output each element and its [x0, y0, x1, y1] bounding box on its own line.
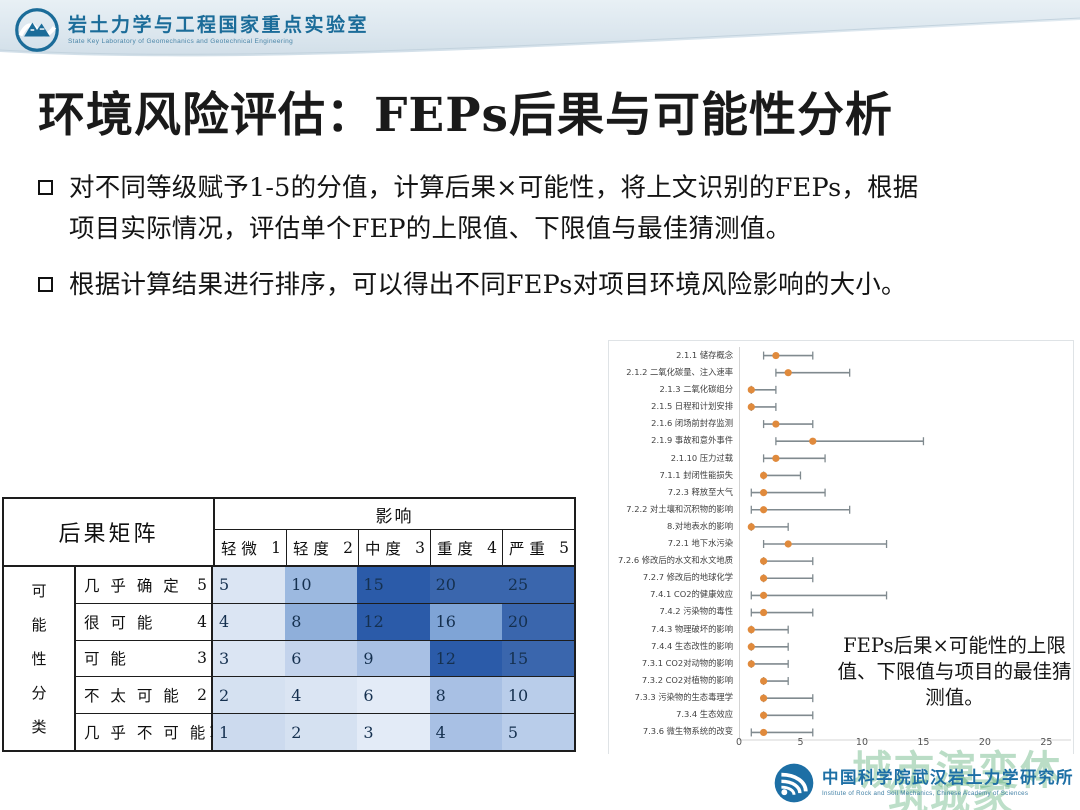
chart-data-point [760, 694, 813, 702]
bullet-line: 对不同等级赋予1-5的分值，计算后果×可能性，将上文识别的FEPs，根据 [69, 168, 919, 209]
impact-column-header: 严 重5 [503, 530, 574, 565]
impact-column-headers: 轻 微1轻 度2中 度3重 度4严 重5 [215, 530, 574, 565]
chart-category-label: 7.2.3 释放至大气 [609, 484, 737, 501]
best-guess-marker [785, 540, 792, 547]
x-axis-tick-label: 0 [736, 737, 742, 748]
best-guess-marker [760, 712, 767, 719]
likelihood-axis-char: 可 [31, 580, 46, 601]
cas-wave-logo-icon [773, 762, 815, 804]
matrix-cell: 9 [357, 641, 429, 677]
likelihood-row-header: 不 太 可 能2 [76, 677, 213, 713]
impact-score: 3 [415, 539, 425, 557]
best-guess-marker [772, 420, 779, 427]
impact-score: 1 [271, 539, 281, 557]
chart-data-point [760, 557, 813, 565]
chart-category-label: 7.4.1 CO2的健康效应 [609, 586, 737, 603]
chart-category-label: 7.1.1 封闭性能损失 [609, 467, 737, 484]
matrix-cell: 5 [502, 714, 574, 750]
matrix-cell: 20 [430, 567, 502, 603]
x-axis-tick-label: 10 [856, 737, 868, 748]
table-row: 几 乎 确 定5510152025 [76, 567, 574, 604]
chart-category-labels: 2.1.1 储存概念2.1.2 二氧化碳量、注入速率2.1.3 二氧化碳组分2.… [609, 347, 737, 740]
x-axis-tick-label: 20 [979, 737, 991, 748]
likelihood-label: 很 可 能 [84, 611, 155, 633]
likelihood-label: 不 太 可 能 [84, 684, 182, 706]
likelihood-label: 几 乎 不 可 能 [84, 721, 208, 743]
matrix-cell: 8 [285, 604, 357, 640]
matrix-cell: 20 [502, 604, 574, 640]
best-guess-marker [785, 369, 792, 376]
chart-category-label: 2.1.1 储存概念 [609, 347, 737, 364]
matrix-rows: 几 乎 确 定5510152025很 可 能448121620可 能336912… [76, 567, 574, 750]
chart-data-point [764, 454, 825, 462]
table-row: 几 乎 不 可 能112345 [76, 714, 574, 750]
institute-name-en: Institute of Rock and Soil Mechanics, Ch… [822, 790, 1074, 797]
impact-column-header: 中 度3 [359, 530, 431, 565]
chart-category-label: 7.4.2 污染物的毒性 [609, 603, 737, 620]
impact-column-header: 轻 度2 [287, 530, 359, 565]
best-guess-marker [748, 386, 755, 393]
likelihood-row-header: 可 能3 [76, 641, 213, 677]
chart-data-point [748, 403, 776, 411]
institute-logo: 中国科学院武汉岩土力学研究所 Institute of Rock and Soi… [773, 762, 1074, 804]
chart-category-label: 7.2.1 地下水污染 [609, 535, 737, 552]
mountain-wave-logo-icon [14, 7, 60, 53]
chart-data-point [760, 711, 813, 719]
matrix-cell: 2 [285, 714, 357, 750]
likelihood-row-header: 几 乎 确 定5 [76, 567, 213, 603]
chart-data-point [764, 540, 887, 548]
chart-category-label: 7.3.6 微生物系统的改变 [609, 723, 737, 740]
chart-category-label: 2.1.5 日程和计划安排 [609, 398, 737, 415]
best-guess-marker [772, 352, 779, 359]
matrix-cell: 4 [213, 604, 285, 640]
chart-data-point [760, 677, 788, 685]
matrix-cell: 6 [285, 641, 357, 677]
bullet-list: 对不同等级赋予1-5的分值，计算后果×可能性，将上文识别的FEPs，根据 项目实… [30, 168, 1060, 320]
impact-score: 5 [559, 539, 569, 557]
matrix-cell: 12 [430, 641, 502, 677]
chart-data-point [748, 643, 788, 651]
bullet-body: 对不同等级赋予1-5的分值，计算后果×可能性，将上文识别的FEPs，根据 项目实… [69, 168, 919, 251]
bullet-body: 根据计算结果进行排序，可以得出不同FEPs对项目环境风险影响的大小。 [69, 265, 907, 306]
slide-canvas: 岩土力学与工程国家重点实验室 State Key Laboratory of G… [0, 0, 1080, 810]
best-guess-marker [760, 729, 767, 736]
best-guess-marker [748, 643, 755, 650]
chart-data-point [748, 660, 788, 668]
likelihood-axis-char: 分 [31, 682, 46, 703]
impact-label: 轻 度 [293, 537, 329, 559]
matrix-cell: 10 [502, 677, 574, 713]
page-title: 环境风险评估：FEPs后果与可能性分析 [38, 76, 1038, 138]
chart-category-label: 7.3.1 CO2对动物的影响 [609, 655, 737, 672]
impact-label: 轻 微 [221, 537, 257, 559]
best-guess-marker [760, 575, 767, 582]
best-guess-marker [760, 695, 767, 702]
best-guess-marker [760, 609, 767, 616]
chart-data-point [764, 420, 813, 428]
likelihood-label: 几 乎 确 定 [84, 574, 182, 596]
matrix-cell: 6 [357, 677, 429, 713]
bullet-line: 根据计算结果进行排序，可以得出不同FEPs对项目环境风险影响的大小。 [69, 265, 907, 306]
likelihood-label: 可 能 [84, 647, 129, 669]
chart-category-label: 2.1.2 二氧化碳量、注入速率 [609, 364, 737, 381]
matrix-cell: 10 [285, 567, 357, 603]
x-axis-tick-label: 15 [917, 737, 929, 748]
matrix-cell: 1 [213, 714, 285, 750]
matrix-cell: 3 [213, 641, 285, 677]
chart-data-point [776, 369, 850, 377]
matrix-cell: 3 [357, 714, 429, 750]
impact-column-header: 重 度4 [431, 530, 503, 565]
best-guess-marker [748, 660, 755, 667]
impact-score: 4 [487, 539, 497, 557]
lab-name-cn: 岩土力学与工程国家重点实验室 [68, 15, 369, 36]
chart-data-point [751, 609, 812, 617]
slide-header: 岩土力学与工程国家重点实验室 State Key Laboratory of G… [0, 0, 1080, 62]
chart-data-point [751, 728, 812, 736]
list-item: 根据计算结果进行排序，可以得出不同FEPs对项目环境风险影响的大小。 [30, 265, 1060, 306]
best-guess-marker [760, 677, 767, 684]
impact-column-header: 轻 微1 [215, 530, 287, 565]
chart-data-point [748, 523, 788, 531]
chart-category-label: 8.对地表水的影响 [609, 518, 737, 535]
likelihood-row-header: 很 可 能4 [76, 604, 213, 640]
best-guess-marker [809, 438, 816, 445]
square-bullet-icon [38, 277, 53, 292]
impact-group-label: 影响 [215, 499, 574, 530]
consequence-matrix-table: 后果矩阵 影响 轻 微1轻 度2中 度3重 度4严 重5 可能性分类 几 乎 确… [2, 497, 576, 752]
chart-category-label: 7.2.2 对土壤和沉积物的影响 [609, 501, 737, 518]
likelihood-axis-char: 类 [31, 716, 46, 737]
best-guess-marker [760, 592, 767, 599]
impact-label: 中 度 [365, 537, 401, 559]
best-guess-marker [748, 626, 755, 633]
matrix-cell: 15 [502, 641, 574, 677]
likelihood-score: 3 [197, 649, 207, 667]
square-bullet-icon [38, 180, 53, 195]
table-row: 很 可 能448121620 [76, 604, 574, 641]
best-guess-marker [760, 472, 767, 479]
likelihood-score: 5 [197, 576, 207, 594]
chart-category-label: 2.1.10 压力过载 [609, 450, 737, 467]
matrix-cell: 8 [430, 677, 502, 713]
chart-category-label: 7.2.6 修改后的水文和水文地质 [609, 552, 737, 569]
table-row: 不 太 可 能2246810 [76, 677, 574, 714]
chart-caption: FEPs后果×可能性的上限值、下限值与项目的最佳猜测值。 [837, 633, 1072, 711]
matrix-cell: 16 [430, 604, 502, 640]
best-guess-marker [760, 489, 767, 496]
chart-category-label: 2.1.9 事故和意外事件 [609, 432, 737, 449]
matrix-cell: 4 [285, 677, 357, 713]
chart-data-point [751, 489, 825, 497]
chart-category-label: 7.4.4 生态改性的影响 [609, 638, 737, 655]
chart-category-label: 7.4.3 物理破坏的影响 [609, 621, 737, 638]
table-row: 可 能33691215 [76, 641, 574, 678]
x-axis-tick-label: 25 [1040, 737, 1052, 748]
chart-data-point [751, 591, 886, 599]
chart-data-point [760, 574, 813, 582]
likelihood-row-header: 几 乎 不 可 能1 [76, 714, 213, 750]
matrix-title: 后果矩阵 [4, 499, 215, 565]
chart-category-label: 2.1.3 二氧化碳组分 [609, 381, 737, 398]
likelihood-score: 4 [197, 613, 207, 631]
institute-name-cn: 中国科学院武汉岩土力学研究所 [822, 769, 1074, 788]
chart-data-point [764, 352, 813, 360]
best-guess-marker [772, 455, 779, 462]
chart-category-label: 7.2.7 修改后的地球化学 [609, 569, 737, 586]
likelihood-score: 2 [197, 686, 207, 704]
list-item: 对不同等级赋予1-5的分值，计算后果×可能性，将上文识别的FEPs，根据 项目实… [30, 168, 1060, 251]
chart-data-point [776, 437, 924, 445]
matrix-header: 后果矩阵 影响 轻 微1轻 度2中 度3重 度4严 重5 [4, 499, 574, 567]
chart-data-point [751, 506, 849, 514]
matrix-cell: 15 [357, 567, 429, 603]
best-guess-marker [760, 506, 767, 513]
matrix-cell: 2 [213, 677, 285, 713]
likelihood-axis-char: 能 [31, 614, 46, 635]
likelihood-axis-char: 性 [31, 648, 46, 669]
chart-x-axis: 0510152025 [739, 737, 1069, 753]
lab-name-en: State Key Laboratory of Geomechanics and… [68, 38, 369, 45]
impact-label: 重 度 [437, 537, 473, 559]
x-axis-tick-label: 5 [797, 737, 803, 748]
chart-category-label: 7.3.2 CO2对植物的影响 [609, 672, 737, 689]
matrix-cell: 5 [213, 567, 285, 603]
feps-risk-errorbar-chart: 2.1.1 储存概念2.1.2 二氧化碳量、注入速率2.1.3 二氧化碳组分2.… [608, 340, 1074, 755]
matrix-impact-header: 影响 轻 微1轻 度2中 度3重 度4严 重5 [215, 499, 574, 565]
best-guess-marker [748, 523, 755, 530]
chart-data-point [748, 626, 788, 634]
slide-footer: 筑城家 城市演变体 中国科学院武汉岩土力学研究所 Institute of Ro… [0, 754, 1080, 810]
matrix-body: 可能性分类 几 乎 确 定5510152025很 可 能448121620可 能… [4, 567, 574, 750]
impact-score: 2 [343, 539, 353, 557]
chart-data-point [748, 386, 776, 394]
matrix-cell: 12 [357, 604, 429, 640]
impact-label: 严 重 [509, 537, 545, 559]
chart-category-label: 2.1.6 闭场前封存监测 [609, 415, 737, 432]
lab-logo: 岩土力学与工程国家重点实验室 State Key Laboratory of G… [14, 7, 369, 53]
matrix-cell: 4 [430, 714, 502, 750]
chart-category-label: 7.3.3 污染物的生态毒理学 [609, 689, 737, 706]
chart-data-point [760, 471, 800, 479]
likelihood-axis-label: 可能性分类 [4, 567, 76, 750]
bullet-line: 项目实际情况，评估单个FEP的上限值、下限值与最佳猜测值。 [69, 209, 919, 250]
best-guess-marker [748, 403, 755, 410]
best-guess-marker [760, 558, 767, 565]
matrix-cell: 25 [502, 567, 574, 603]
chart-category-label: 7.3.4 生态效应 [609, 706, 737, 723]
